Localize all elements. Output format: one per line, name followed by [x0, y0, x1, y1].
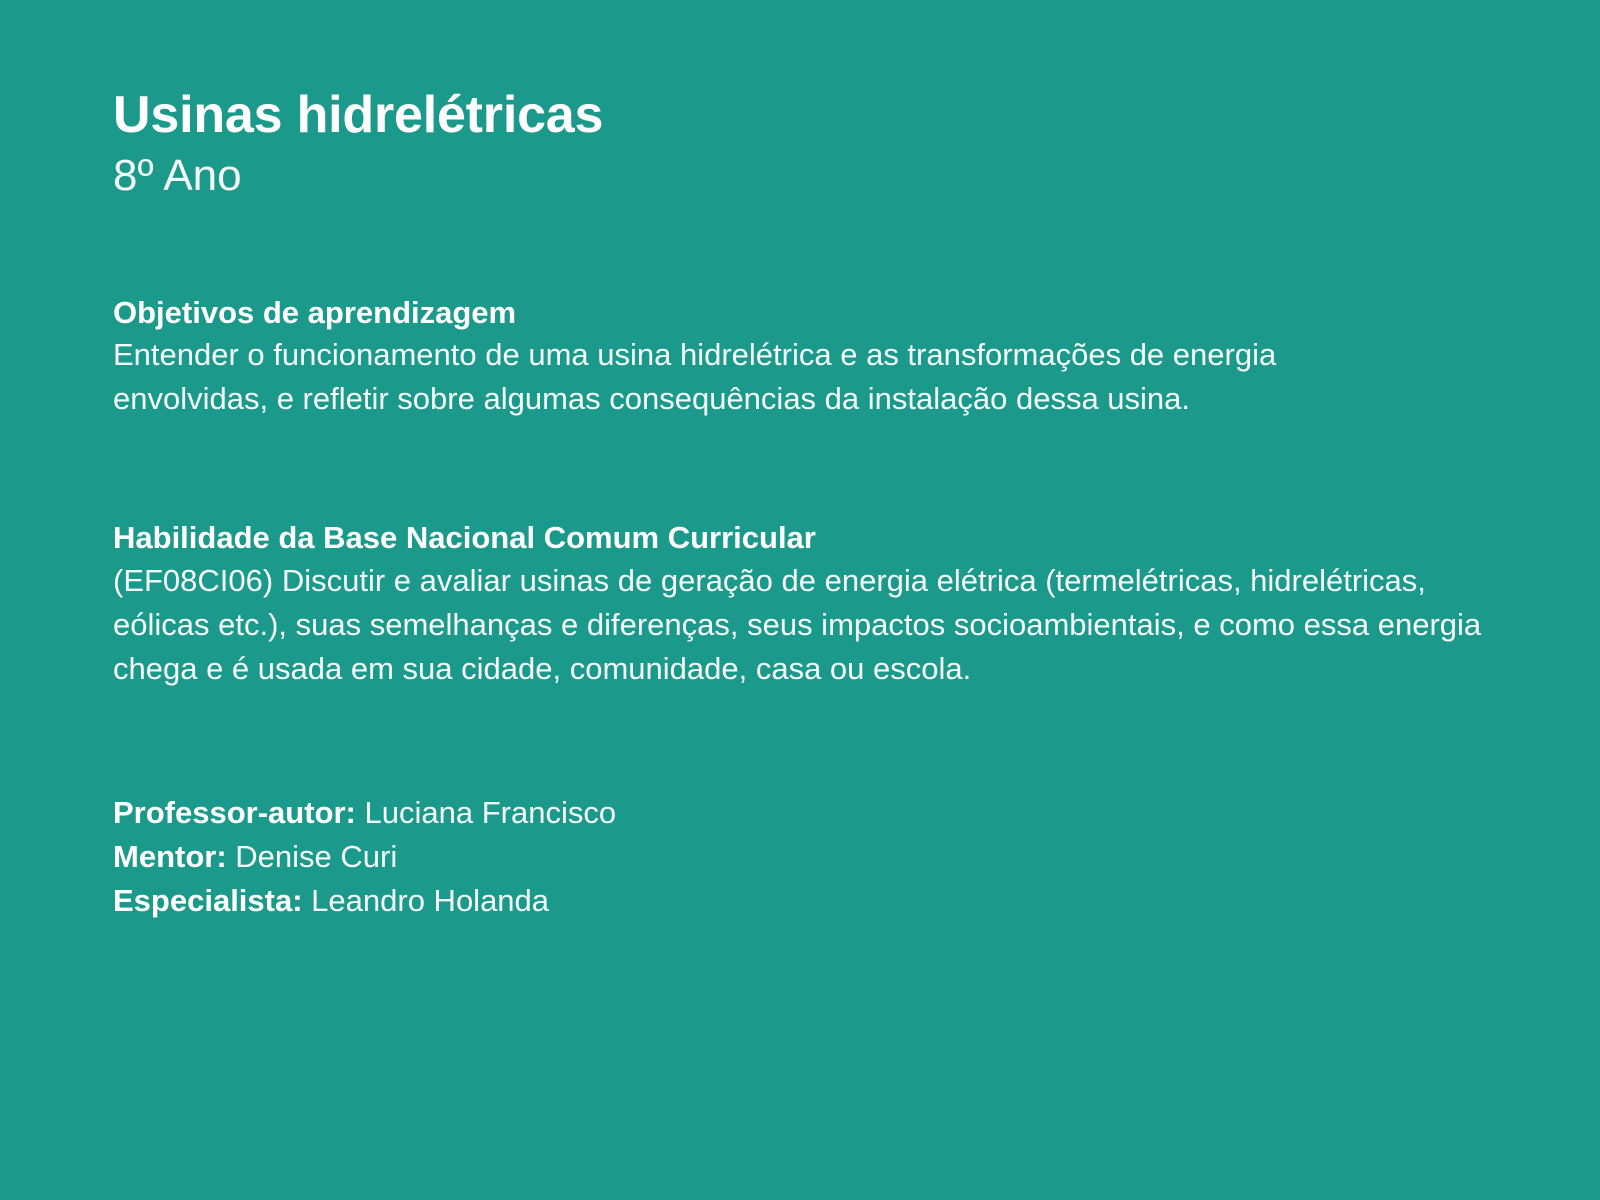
credit-label-mentor: Mentor: [113, 839, 227, 874]
credits-section: Professor-autor: Luciana Francisco Mento… [113, 791, 1473, 923]
credit-value-mentor: Denise Curi [235, 839, 397, 874]
bncc-skill-body: (EF08CI06) Discutir e avaliar usinas de … [113, 559, 1490, 691]
credit-value-professor-autor: Luciana Francisco [365, 795, 617, 830]
credit-line-mentor: Mentor: Denise Curi [113, 835, 1473, 879]
learning-objectives-heading: Objetivos de aprendizagem [113, 294, 1313, 331]
credit-line-professor-autor: Professor-autor: Luciana Francisco [113, 791, 1473, 835]
credit-label-professor-autor: Professor-autor: [113, 795, 356, 830]
slide-canvas: Usinas hidrelétricas 8º Ano Objetivos de… [0, 0, 1600, 1200]
credit-line-especialista: Especialista: Leandro Holanda [113, 879, 1473, 923]
bncc-skill-section: Habilidade da Base Nacional Comum Curric… [113, 519, 1490, 690]
page-title: Usinas hidrelétricas [113, 86, 1490, 144]
bncc-skill-heading: Habilidade da Base Nacional Comum Curric… [113, 519, 1490, 556]
credit-value-especialista: Leandro Holanda [311, 883, 549, 918]
title-block: Usinas hidrelétricas 8º Ano [113, 86, 1490, 202]
credit-label-especialista: Especialista: [113, 883, 303, 918]
page-subtitle: 8º Ano [113, 150, 1490, 202]
learning-objectives-body: Entender o funcionamento de uma usina hi… [113, 333, 1313, 421]
learning-objectives-section: Objetivos de aprendizagem Entender o fun… [113, 294, 1313, 421]
